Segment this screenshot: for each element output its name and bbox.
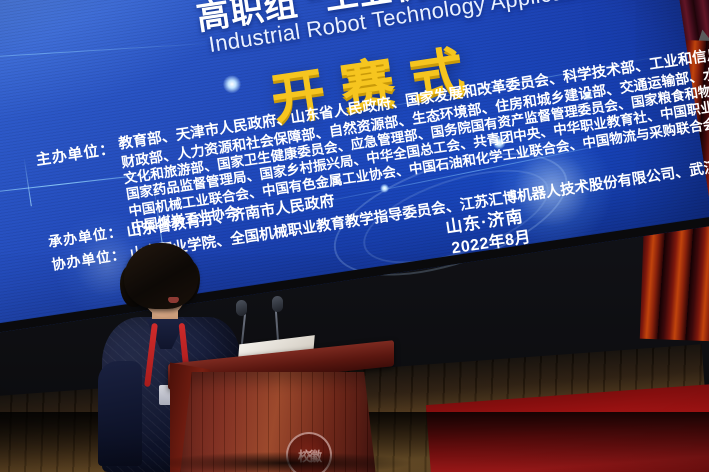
- speaker-mouth: [168, 297, 179, 303]
- speaker-hair: [124, 243, 198, 309]
- speaker-left-arm: [98, 361, 142, 466]
- photo-scene: ChinaSkills 2022年 “中银杯” 全国职业院校技能大赛 2022 …: [0, 0, 709, 472]
- mic-head: [272, 296, 283, 312]
- mic-head: [236, 300, 247, 316]
- podium-ground-shadow: [160, 452, 410, 472]
